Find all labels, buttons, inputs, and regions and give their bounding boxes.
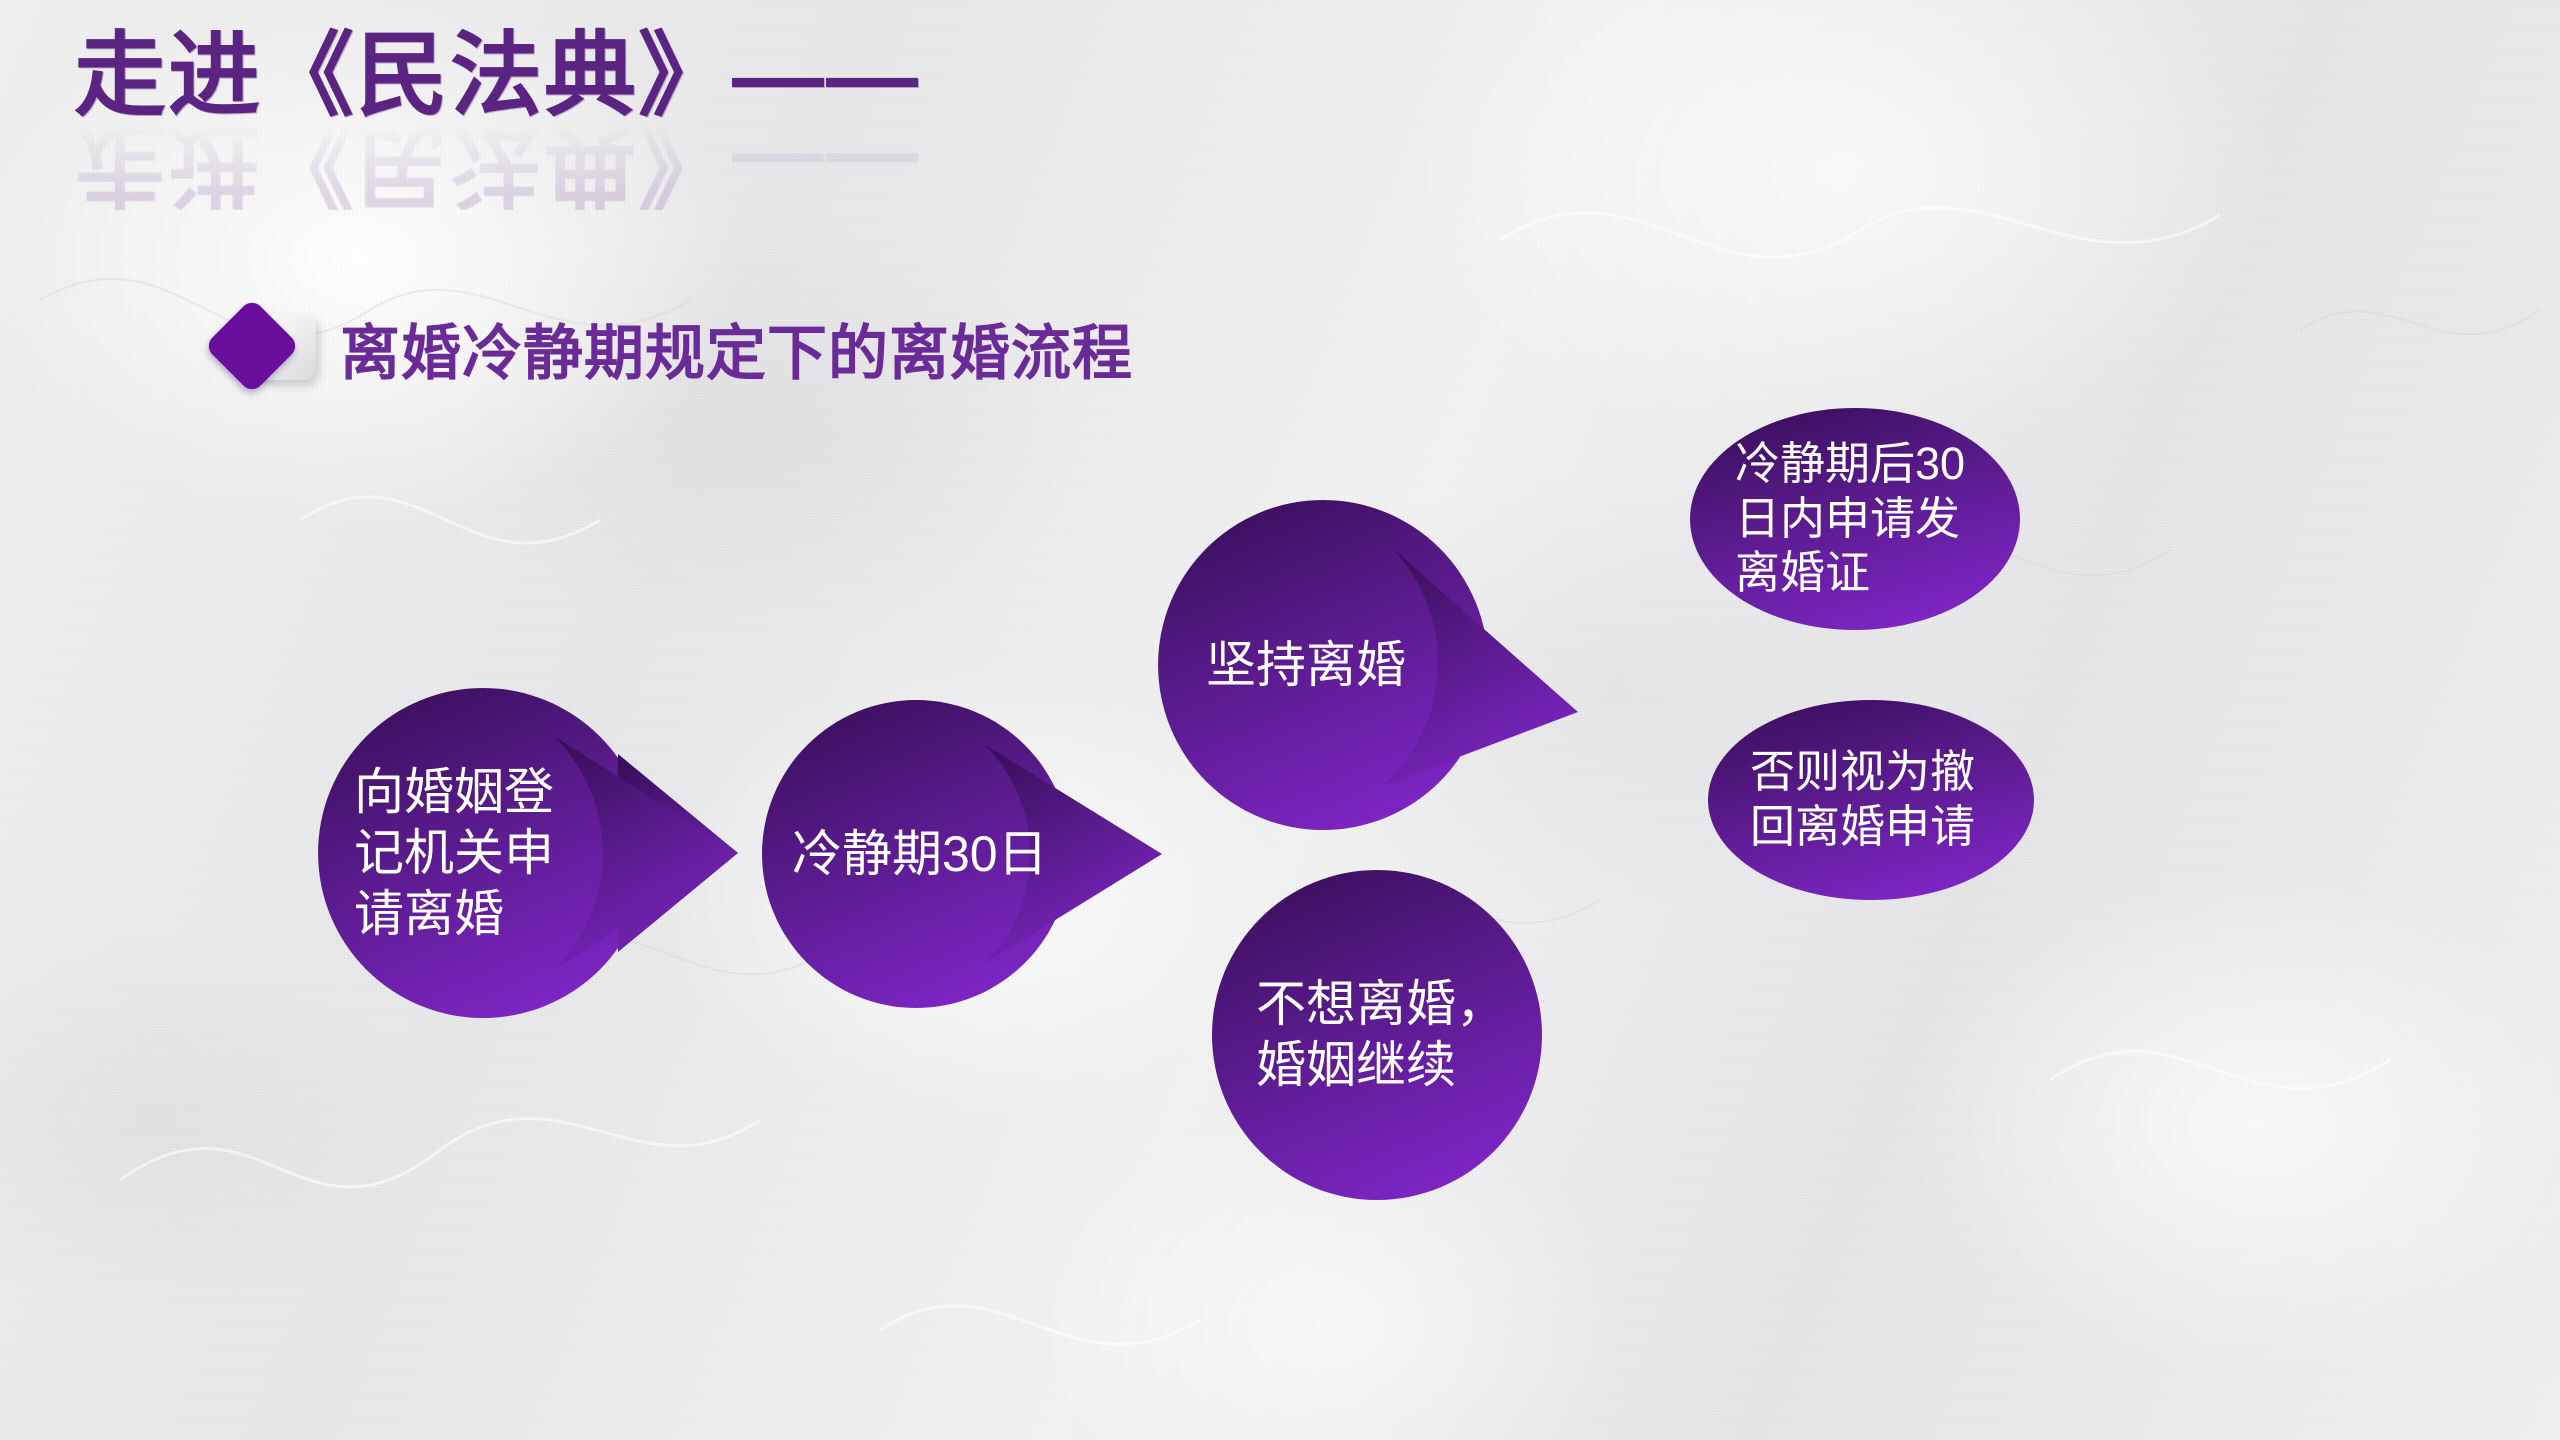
flow-node-insist-label: 坚持离婚 [1158, 635, 1406, 696]
subtitle-row: 离婚冷静期规定下的离婚流程 [212, 300, 1133, 396]
flow-node-continue[interactable]: 不想离婚， 婚姻继续 [1212, 870, 1542, 1200]
title-block: 走进《民法典》—— 走进《民法典》—— [74, 30, 1274, 220]
flow-node-insist[interactable]: 坚持离婚 [1158, 500, 1578, 830]
bullet-diamond-group [212, 300, 332, 396]
flow-node-continue-label: 不想离婚， 婚姻继续 [1212, 974, 1506, 1096]
flow-node-apply-label: 向婚姻登 记机关申 请离婚 [318, 762, 554, 945]
flow-node-withdraw-label: 否则视为撤 回离婚申请 [1708, 745, 1975, 855]
flow-node-cooling[interactable]: 冷静期30日 [762, 700, 1162, 1008]
page-title-reflection: 走进《民法典》—— [74, 118, 920, 210]
flow-node-cooling-label: 冷静期30日 [762, 824, 1048, 885]
flow-node-withdraw[interactable]: 否则视为撤 回离婚申请 [1708, 700, 2034, 900]
subtitle-text: 离婚冷静期规定下的离婚流程 [340, 305, 1133, 392]
page-title: 走进《民法典》—— [74, 30, 1274, 122]
slide-canvas: 走进《民法典》—— 走进《民法典》—— 离婚冷静期规定下的离婚流程 向婚姻登 记… [0, 0, 2560, 1440]
flow-node-apply[interactable]: 向婚姻登 记机关申 请离婚 [318, 688, 738, 1018]
flow-node-issue-label: 冷静期后30 日内申请发 离婚证 [1690, 437, 1965, 602]
flow-node-issue[interactable]: 冷静期后30 日内申请发 离婚证 [1690, 408, 2020, 630]
